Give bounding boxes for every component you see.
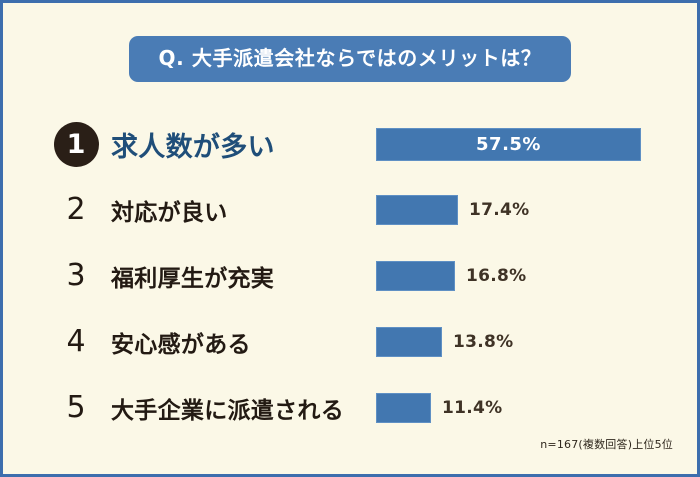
bar-value-label: 57.5% bbox=[476, 134, 541, 155]
bar-value-label: 16.8% bbox=[466, 266, 526, 286]
bar-zone: 13.8% bbox=[376, 309, 513, 375]
ranking-row: 3 福利厚生が充実 16.8% bbox=[3, 243, 697, 309]
value-bar bbox=[376, 327, 442, 357]
ranking-row: 4 安心感がある 13.8% bbox=[3, 309, 697, 375]
ranking-label: 求人数が多い bbox=[111, 125, 275, 164]
ranking-list: 1 求人数が多い 57.5% 2 対応が良い 17.4% 3 bbox=[3, 111, 697, 441]
value-bar bbox=[376, 195, 458, 225]
bar-zone: 17.4% bbox=[376, 177, 529, 243]
rank-cell: 4 bbox=[45, 327, 107, 357]
rank-number: 3 bbox=[66, 261, 85, 291]
rank-cell: 1 bbox=[45, 122, 107, 167]
ranking-row: 5 大手企業に派遣される 11.4% bbox=[3, 375, 697, 441]
ranking-label: 対応が良い bbox=[111, 193, 228, 227]
rank-cell: 3 bbox=[45, 261, 107, 291]
infographic-canvas: Q. 大手派遣会社ならではのメリットは？ 1 求人数が多い 57.5% 2 対応… bbox=[0, 0, 700, 477]
bar-value-label: 11.4% bbox=[442, 398, 502, 418]
question-text: Q. 大手派遣会社ならではのメリットは？ bbox=[159, 46, 542, 70]
sample-size-note: n=167(複数回答)上位5位 bbox=[540, 436, 673, 452]
value-bar: 57.5% bbox=[376, 128, 641, 161]
bar-zone: 11.4% bbox=[376, 375, 502, 441]
rank-number: 4 bbox=[66, 327, 85, 357]
ranking-label: 福利厚生が充実 bbox=[111, 259, 274, 293]
ranking-row: 1 求人数が多い 57.5% bbox=[3, 111, 697, 177]
ranking-label: 大手企業に派遣される bbox=[111, 391, 344, 425]
rank-cell: 2 bbox=[45, 195, 107, 225]
rank-number: 5 bbox=[66, 393, 85, 423]
ranking-label: 安心感がある bbox=[111, 325, 251, 359]
value-bar bbox=[376, 261, 455, 291]
ranking-row: 2 対応が良い 17.4% bbox=[3, 177, 697, 243]
bar-zone: 57.5% bbox=[376, 111, 641, 177]
bar-zone: 16.8% bbox=[376, 243, 526, 309]
rank-cell: 5 bbox=[45, 393, 107, 423]
rank-number: 2 bbox=[66, 195, 85, 225]
question-header: Q. 大手派遣会社ならではのメリットは？ bbox=[3, 36, 697, 82]
value-bar bbox=[376, 393, 431, 423]
bar-value-label: 13.8% bbox=[453, 332, 513, 352]
bar-value-label: 17.4% bbox=[469, 200, 529, 220]
question-pill: Q. 大手派遣会社ならではのメリットは？ bbox=[129, 36, 572, 82]
rank-badge-icon: 1 bbox=[54, 122, 99, 167]
